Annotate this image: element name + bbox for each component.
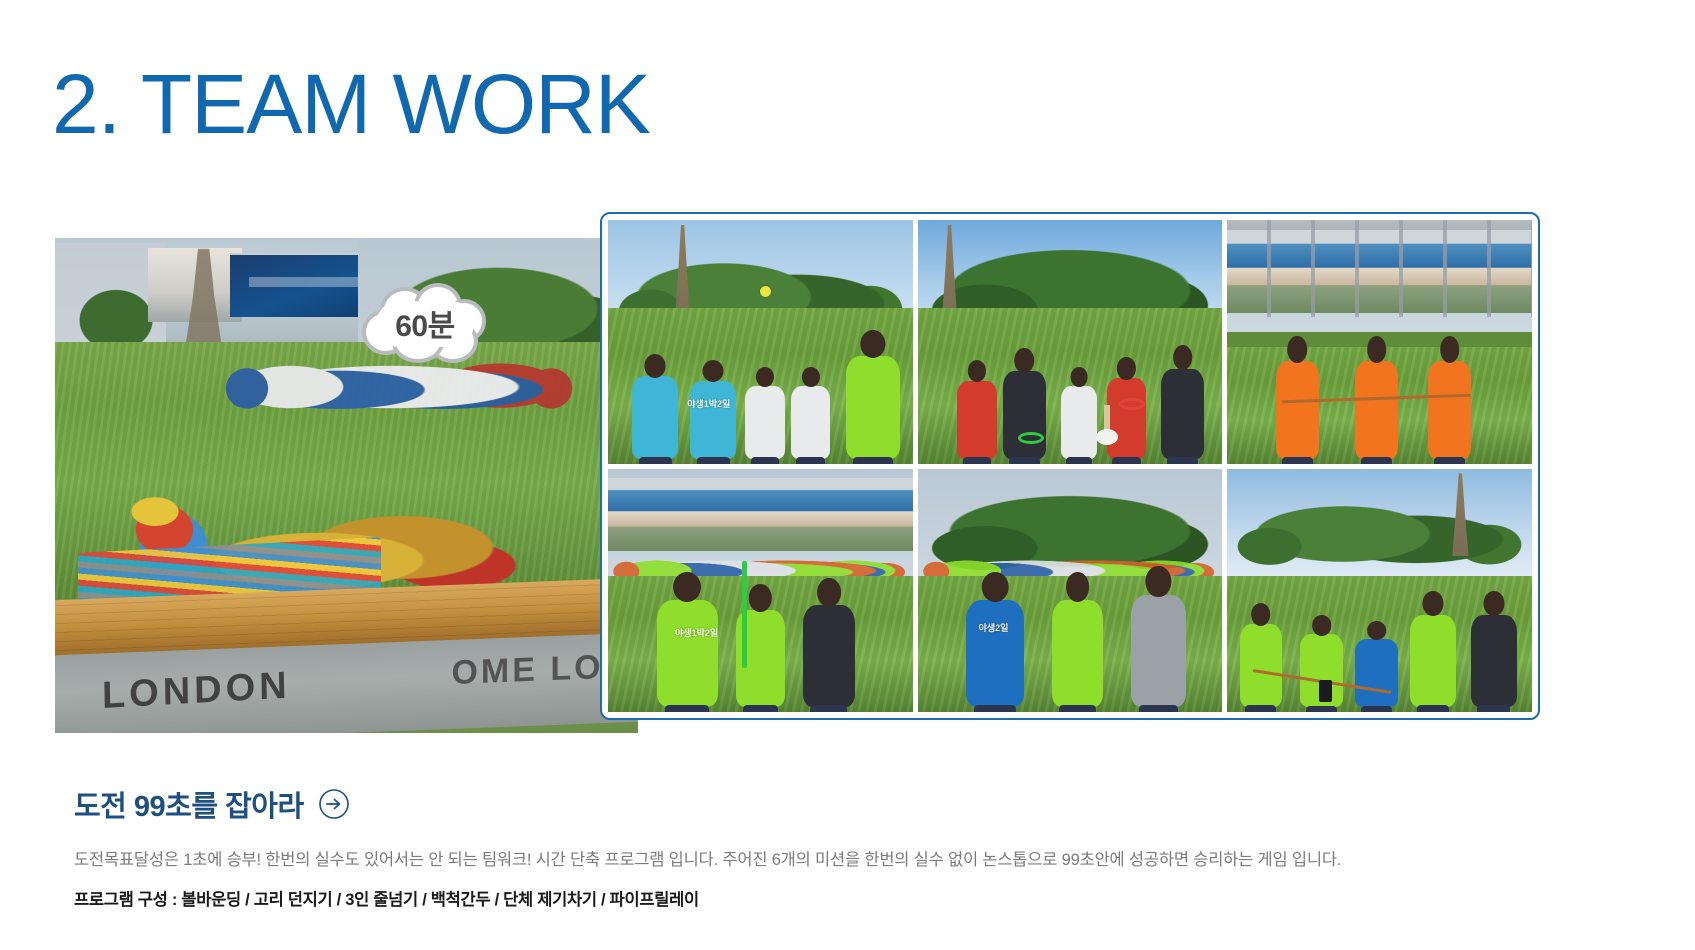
participant-figure: [632, 376, 678, 459]
vest-text: 야생1박2일: [687, 397, 730, 410]
participant-figure: [1131, 595, 1186, 707]
tee-prop-icon: [1104, 405, 1110, 439]
program-heading-row: 도전 99초를 잡아라: [74, 783, 350, 825]
duration-label: 60분: [362, 283, 488, 363]
participant-figure: [1355, 361, 1398, 458]
participant-figure: [1003, 371, 1046, 459]
gallery-photo-6: [1227, 469, 1532, 713]
photo-gallery-frame: 야생1박2일: [600, 212, 1540, 720]
participant-figure: [1276, 361, 1319, 458]
ball-icon: [760, 286, 771, 297]
participant-figure: [957, 381, 997, 459]
gallery-photo-2: [918, 220, 1223, 464]
slide-page: 2. TEAM WORK LONDON OME LO 60분: [0, 0, 1695, 950]
vest-text: 야생1박2일: [675, 626, 718, 639]
participant-figure: [1052, 600, 1104, 707]
photo-trees: [1227, 483, 1532, 571]
participant-figure: [745, 386, 785, 459]
participant-figure: [1428, 361, 1471, 458]
stage-poles: [1227, 220, 1532, 317]
program-title: 도전 99초를 잡아라: [74, 783, 304, 825]
participant-figure: [1410, 615, 1456, 708]
duration-cloud-badge: 60분: [362, 283, 488, 363]
participant-figure: [846, 356, 901, 458]
hero-wall-text-secondary: OME LO: [451, 648, 603, 693]
pole-prop-icon: [742, 561, 747, 668]
participant-figure: [1107, 378, 1147, 458]
participant-figure: [1471, 615, 1517, 708]
gallery-photo-5: 야생2일: [918, 469, 1223, 713]
participant-figure: [1355, 639, 1398, 707]
participant-figure: [1061, 386, 1098, 459]
program-composition: 프로그램 구성 : 볼바운딩 / 고리 던지기 / 3인 줄넘기 / 백척간두 …: [74, 886, 699, 910]
hero-wall-text-london: LONDON: [101, 664, 290, 718]
page-title: 2. TEAM WORK: [52, 56, 650, 152]
participant-figure: [690, 381, 736, 459]
participant-figure: [803, 605, 855, 707]
participant-figure: [966, 600, 1024, 707]
participant-figure: [1161, 369, 1204, 459]
participant-figure: [791, 386, 831, 459]
participant-figure: [657, 600, 718, 707]
team-work-main-photo: LONDON OME LO: [55, 238, 638, 733]
vest-text: 야생2일: [979, 621, 1009, 634]
arrow-right-circle-icon[interactable]: [318, 788, 350, 820]
gallery-photo-1: 야생1박2일: [608, 220, 913, 464]
program-description: 도전목표달성은 1초에 승부! 한번의 실수도 있어서는 안 되는 팀워크! 시…: [74, 846, 1341, 870]
cone-prop-icon: [1319, 680, 1332, 702]
photo-gallery-grid: 야생1박2일: [608, 220, 1532, 712]
gallery-photo-4: 야생1박2일: [608, 469, 913, 713]
ring-icon: [1119, 398, 1145, 410]
participant-figure: [1240, 624, 1283, 707]
stage-banner: [608, 478, 913, 551]
gallery-photo-3: [1227, 220, 1532, 464]
